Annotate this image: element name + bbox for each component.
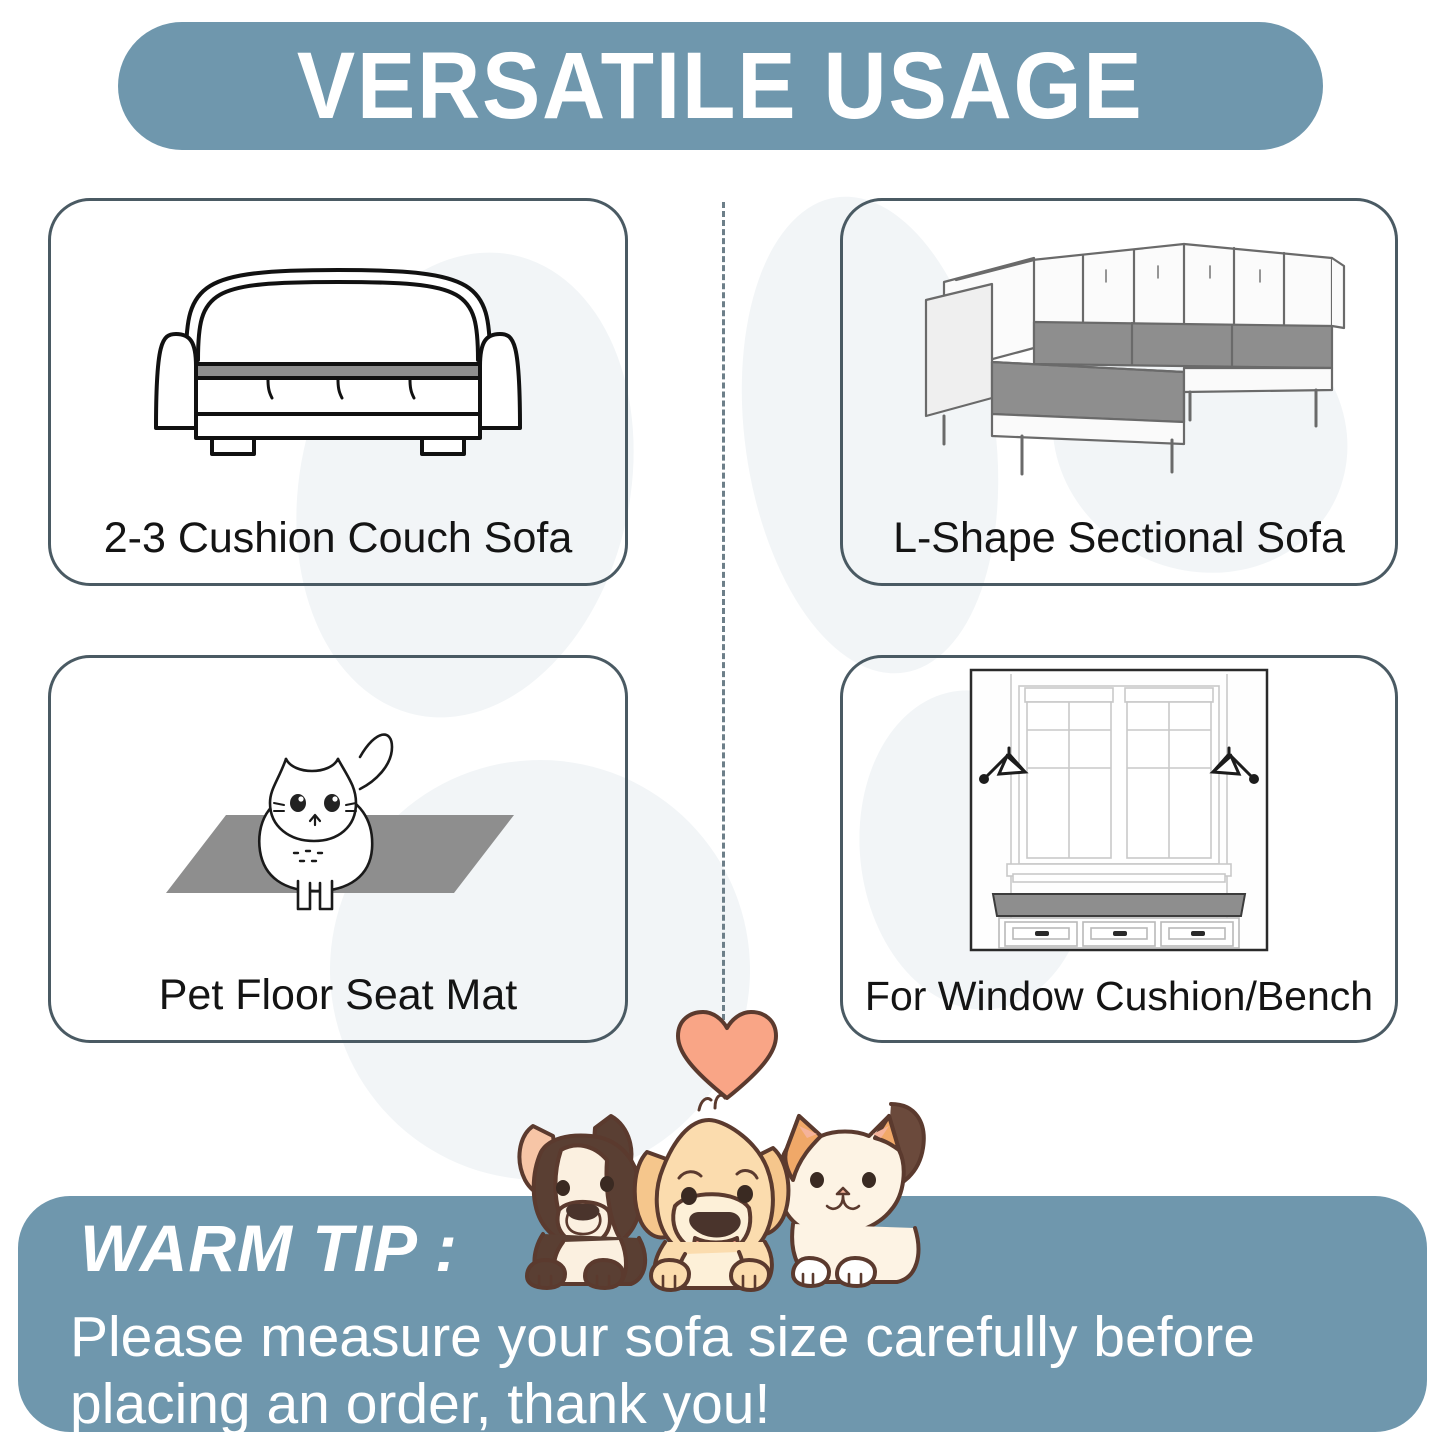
- cat-on-mat-icon: [51, 666, 625, 954]
- sectional-sofa-icon: [843, 209, 1395, 497]
- vertical-dashed-divider: [722, 202, 725, 1020]
- usage-card-l-shape-sectional-sofa[interactable]: L-Shape Sectional Sofa: [840, 198, 1398, 586]
- usage-card-label: Pet Floor Seat Mat: [59, 973, 617, 1018]
- page-title: VERSATILE USAGE: [297, 39, 1144, 134]
- pets-group-icon: [487, 1082, 957, 1297]
- usage-card-window-cushion-bench[interactable]: For Window Cushion/Bench: [840, 655, 1398, 1043]
- header-banner: VERSATILE USAGE: [118, 22, 1323, 150]
- usage-card-label: For Window Cushion/Bench: [851, 975, 1387, 1018]
- usage-card-cushion-couch-sofa[interactable]: 2-3 Cushion Couch Sofa: [48, 198, 628, 586]
- warm-tip-heading: WARM TIP :: [80, 1210, 458, 1286]
- usage-card-label: 2-3 Cushion Couch Sofa: [59, 516, 617, 561]
- warm-tip-body: Please measure your sofa size carefully …: [70, 1304, 1387, 1439]
- warm-tip-line-1: Please measure your sofa size carefully …: [70, 1304, 1387, 1371]
- window-bench-icon: [843, 666, 1395, 954]
- warm-tip-line-2: placing an order, thank you!: [70, 1371, 1387, 1438]
- couch-sofa-icon: [51, 209, 625, 497]
- usage-card-label: L-Shape Sectional Sofa: [851, 516, 1387, 561]
- usage-card-pet-floor-seat-mat[interactable]: Pet Floor Seat Mat: [48, 655, 628, 1043]
